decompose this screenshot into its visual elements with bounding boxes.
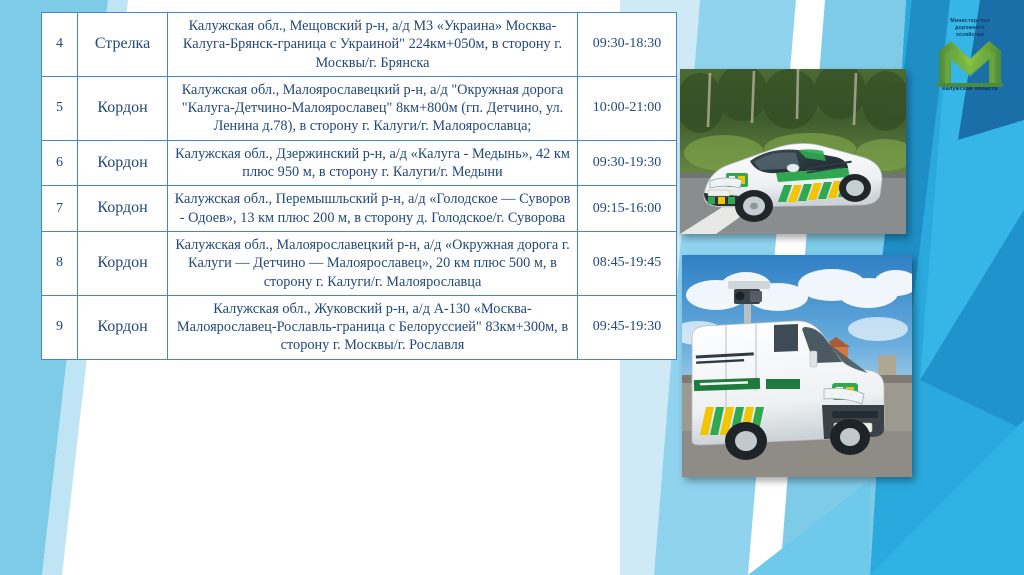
row-number: 8 <box>42 231 78 295</box>
row-address: Калужская обл., Малоярославецкий р-н, а/… <box>168 76 578 140</box>
row-device-type: Кордон <box>78 295 168 359</box>
logo-line-2: дорожного <box>929 25 1011 32</box>
row-device-type: Кордон <box>78 140 168 186</box>
table-row: 8КордонКалужская обл., Малоярославецкий … <box>42 231 677 295</box>
row-time: 10:00-21:00 <box>578 76 677 140</box>
logo-mark-icon <box>935 39 1005 87</box>
row-number: 4 <box>42 13 78 77</box>
row-time: 09:15-16:00 <box>578 186 677 232</box>
photo-speed-camera-car <box>680 69 906 234</box>
row-device-type: Кордон <box>78 186 168 232</box>
photo-speed-control-van <box>682 255 912 477</box>
row-address: Калужская обл., Малоярославецкий р-н, а/… <box>168 231 578 295</box>
table-row: 9КордонКалужская обл., Жуковский р-н, а/… <box>42 295 677 359</box>
row-number: 9 <box>42 295 78 359</box>
row-address: Калужская обл., Жуковский р-н, а/д А-130… <box>168 295 578 359</box>
logo-line-3: хозяйства <box>929 32 1011 39</box>
table-row: 5КордонКалужская обл., Малоярославецкий … <box>42 76 677 140</box>
row-number: 5 <box>42 76 78 140</box>
row-number: 6 <box>42 140 78 186</box>
row-address: Калужская обл., Перемышльский р-н, а/д «… <box>168 186 578 232</box>
logo-line-1: Министерство <box>929 18 1011 25</box>
table-row: 7КордонКалужская обл., Перемышльский р-н… <box>42 186 677 232</box>
row-time: 09:30-19:30 <box>578 140 677 186</box>
schedule-table-wrap: 4СтрелкаКалужская обл., Мещовский р-н, а… <box>41 12 658 360</box>
row-number: 7 <box>42 186 78 232</box>
speed-camera-schedule-table: 4СтрелкаКалужская обл., Мещовский р-н, а… <box>41 12 677 360</box>
row-device-type: Кордон <box>78 76 168 140</box>
row-device-type: Стрелка <box>78 13 168 77</box>
row-time: 09:30-18:30 <box>578 13 677 77</box>
row-device-type: Кордон <box>78 231 168 295</box>
ministry-logo: Министерство дорожного хозяйства Калужск… <box>929 18 1011 100</box>
slide-canvas: 4СтрелкаКалужская обл., Мещовский р-н, а… <box>0 0 1024 575</box>
row-address: Калужская обл., Мещовский р-н, а/д М3 «У… <box>168 13 578 77</box>
table-row: 4СтрелкаКалужская обл., Мещовский р-н, а… <box>42 13 677 77</box>
table-row: 6КордонКалужская обл., Дзержинский р-н, … <box>42 140 677 186</box>
row-time: 08:45-19:45 <box>578 231 677 295</box>
row-address: Калужская обл., Дзержинский р-н, а/д «Ка… <box>168 140 578 186</box>
row-time: 09:45-19:30 <box>578 295 677 359</box>
